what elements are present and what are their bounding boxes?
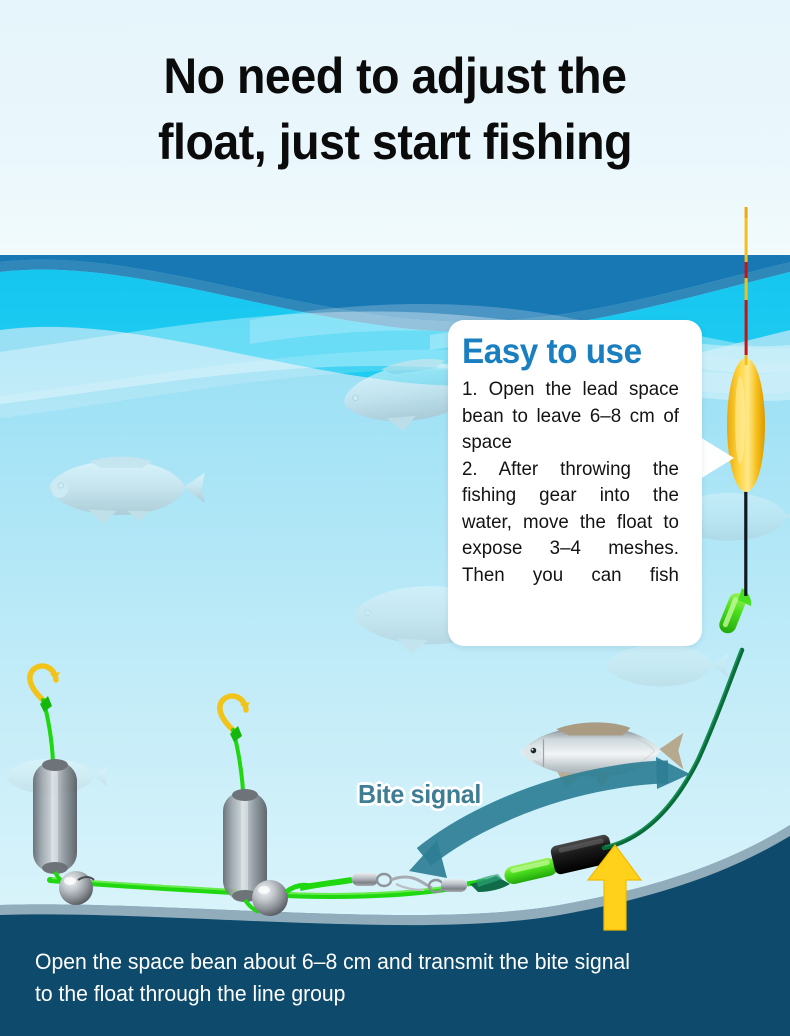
- callout-step-1: 1. Open the lead space bean to leave 6–8…: [462, 376, 679, 456]
- antenna-seg-y0: [745, 355, 748, 365]
- swivel-barrel-2: [441, 879, 467, 892]
- header-section: No need to adjust the float, just start …: [0, 0, 790, 210]
- feeder-highlight-2: [241, 792, 248, 900]
- callout-pointer: [700, 437, 734, 479]
- weight-ball-shine-2: [258, 886, 270, 894]
- headline-line-2: float, just start fishing: [28, 114, 763, 170]
- float-body-shine: [735, 376, 745, 464]
- carp-eye-shine: [531, 749, 533, 751]
- feeder-highlight-1: [51, 762, 58, 872]
- footer-line-2: to the float through the line group: [35, 978, 712, 1010]
- swivel-barrel-1: [352, 873, 378, 886]
- callout-title: Easy to use: [462, 332, 677, 372]
- footer-line-1: Open the space bean about 6–8 cm and tra…: [35, 946, 712, 978]
- headline-line-1: No need to adjust the: [28, 48, 763, 104]
- footer-caption: Open the space bean about 6–8 cm and tra…: [35, 946, 712, 1010]
- weight-ball-2: [252, 880, 288, 916]
- easy-to-use-callout: Easy to use 1. Open the lead space bean …: [448, 320, 702, 646]
- antenna-seg-y2: [745, 218, 748, 262]
- callout-step-2: 2. After throwing the fishing gear into …: [462, 456, 679, 615]
- feeder-cap-top-2: [232, 789, 258, 801]
- antenna-seg-r1: [745, 300, 748, 355]
- carp-eye: [531, 748, 537, 754]
- antenna-seg-r2: [745, 262, 748, 278]
- infographic-canvas: No need to adjust the float, just start …: [0, 0, 790, 1036]
- antenna-seg-y1: [745, 278, 748, 300]
- bite-signal-label: Bite signal: [358, 779, 481, 810]
- weight-ball-shine-1: [64, 877, 76, 885]
- feeder-cap-top-1: [42, 759, 68, 771]
